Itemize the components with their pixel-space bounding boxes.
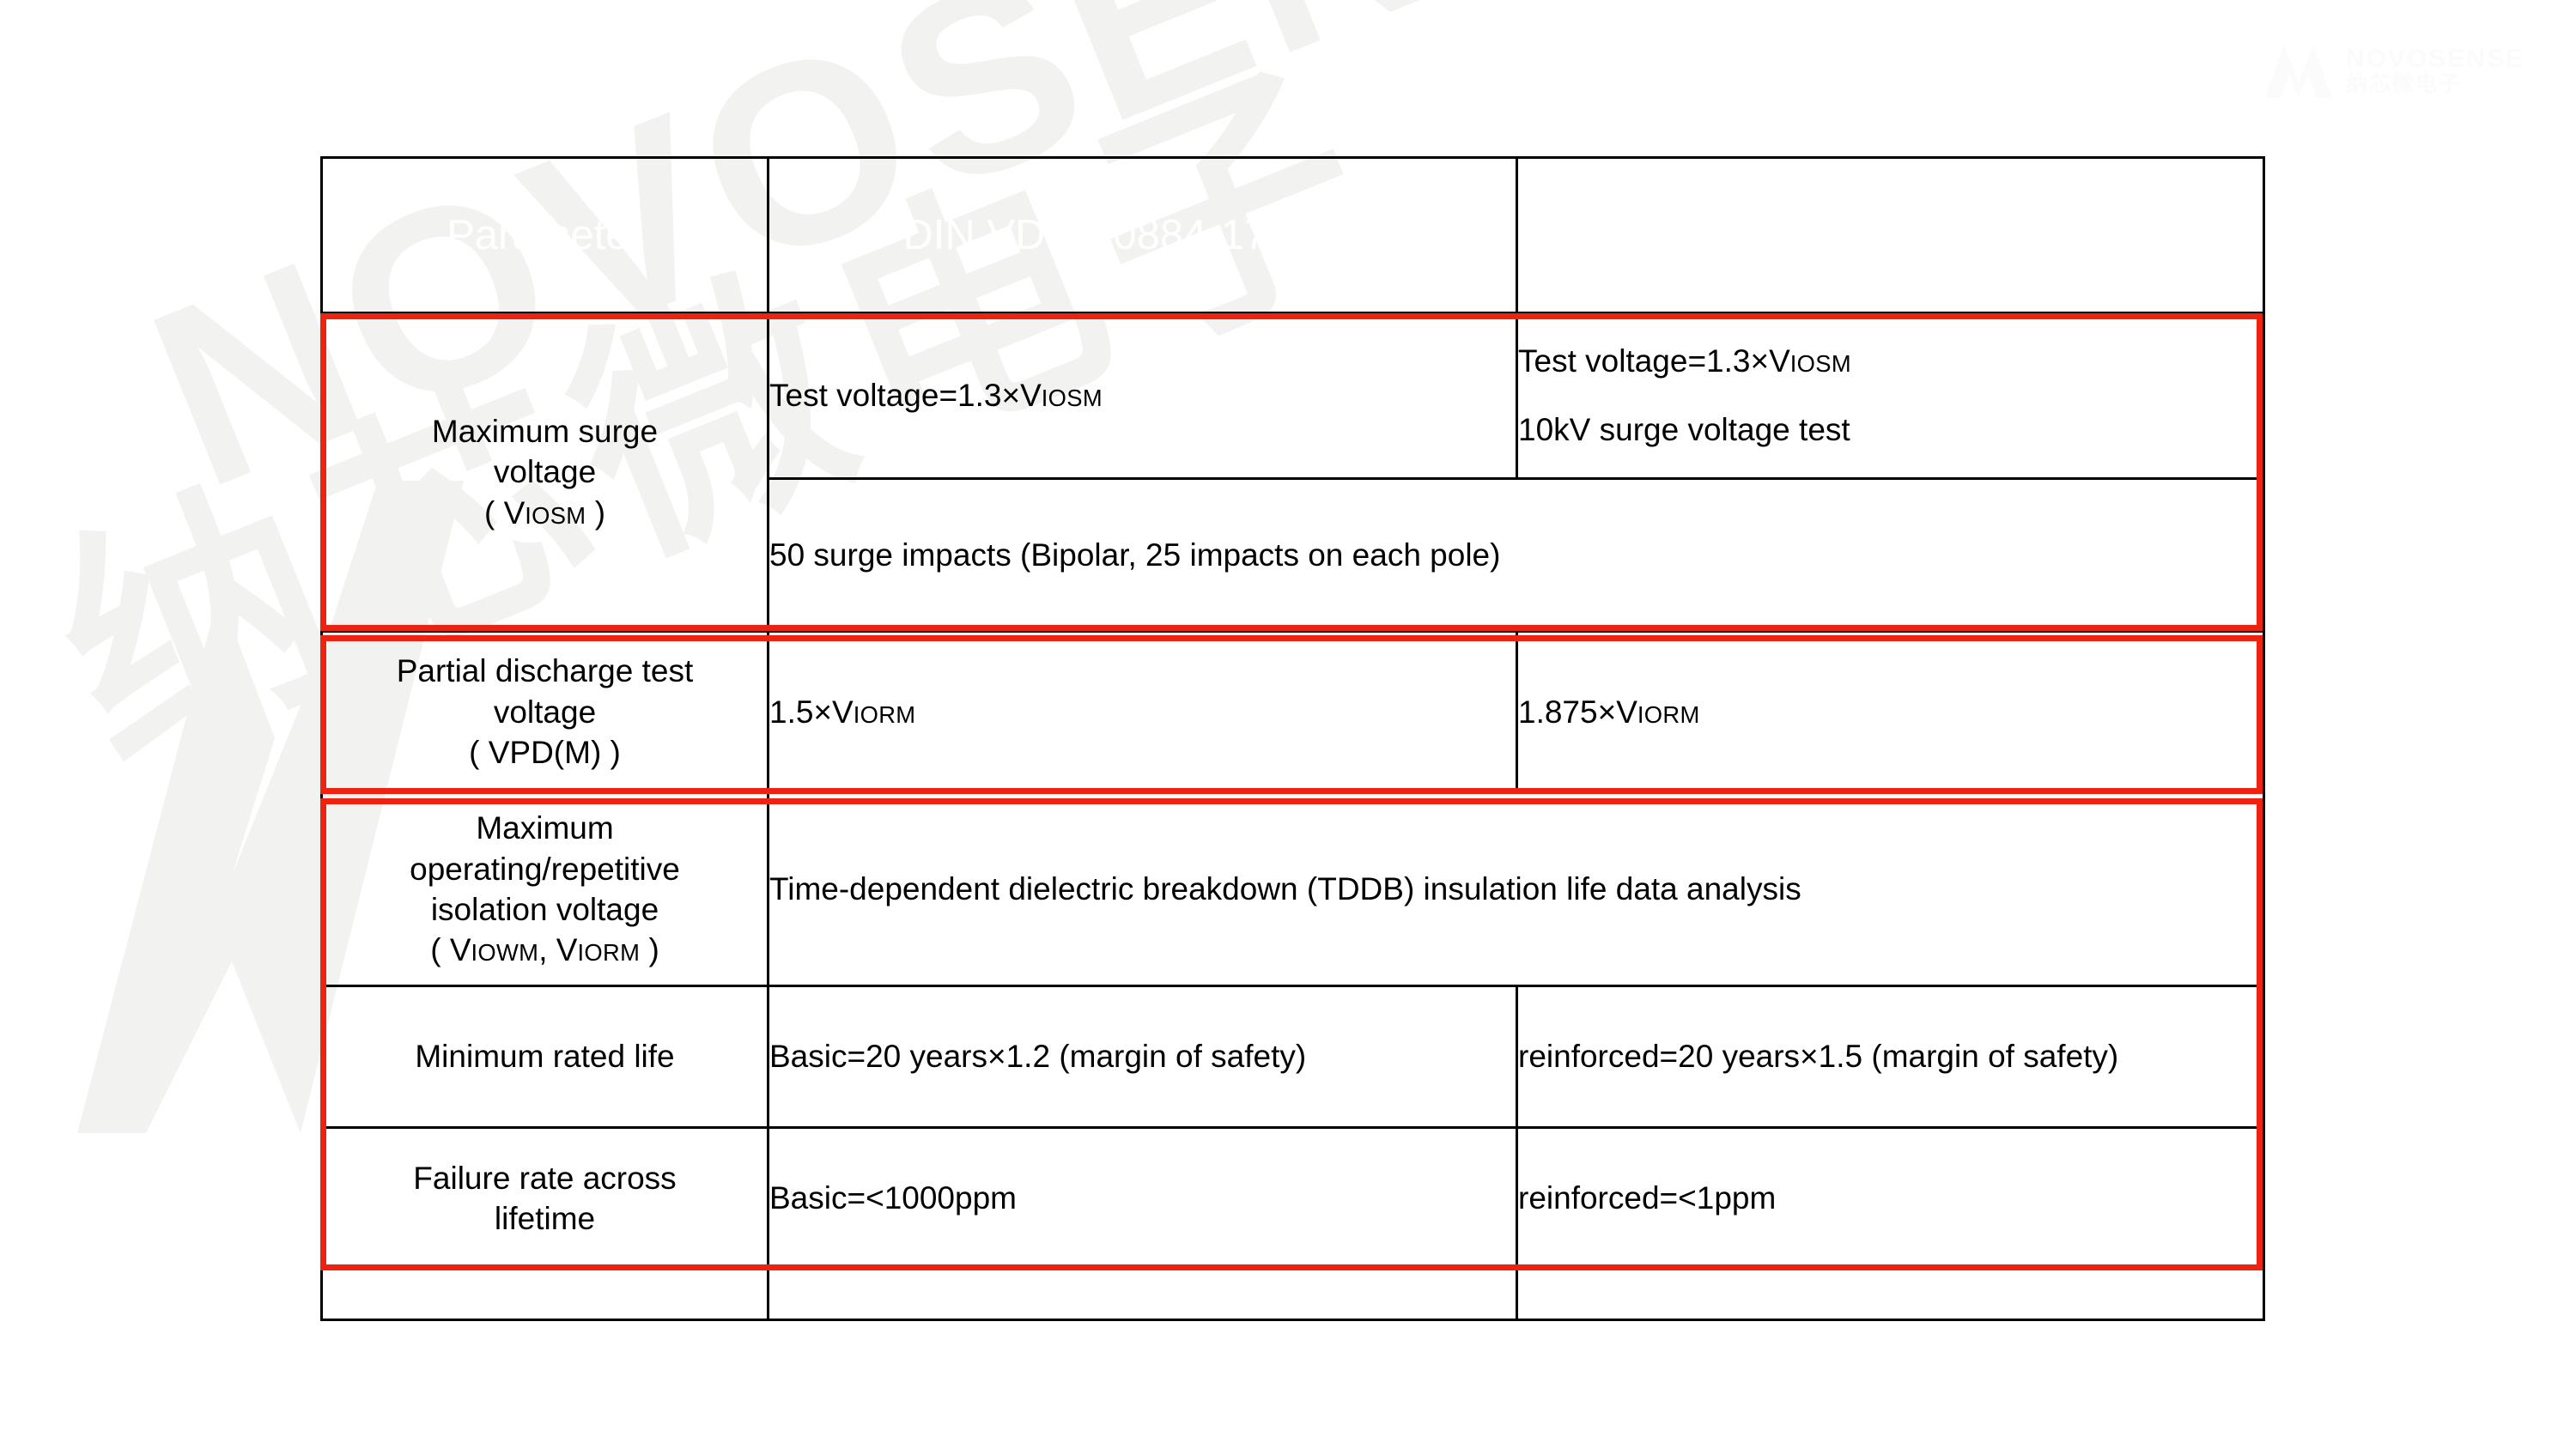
cell-param-isolation-voltage: Maximum operating/repetitive isolation v… xyxy=(322,793,769,986)
surge-param-line3-open: ( V xyxy=(484,495,525,530)
cell-param-empty xyxy=(322,1270,769,1320)
surge-param-line1: Maximum surge xyxy=(432,414,658,449)
cell-reinforced-minimum-rated-life: reinforced=20 years×1.5 (margin of safet… xyxy=(1517,986,2264,1128)
reinforced-surge-line1: Test voltage=1.3×VIOSM xyxy=(1518,338,2263,385)
table-row-minimum-rated-life: Minimum rated life Basic=20 years×1.2 (m… xyxy=(322,986,2264,1128)
basic-pd-text: 1.5×V xyxy=(769,694,854,730)
header-cell-reinforced: DIN VDE V0884-17 Reinforced xyxy=(1517,158,2264,313)
iso-param-line2: operating/repetitive xyxy=(410,852,680,887)
surge-param-line2: voltage xyxy=(494,454,596,489)
header-cell-parameter: Parameter xyxy=(322,158,769,313)
table-body: Maximum surge voltage ( VIOSM ) Test vol… xyxy=(322,313,2264,1320)
cell-reinforced-empty xyxy=(1517,1270,2264,1320)
reinforced-pd-sub: IORM xyxy=(1637,701,1700,728)
brand-text: NOVOSENSE 纳芯微电子 xyxy=(2346,45,2524,97)
header-cell-basic: DIN VDE V0884-17 Basic xyxy=(769,158,1517,313)
reinforced-pd-text: 1.875×V xyxy=(1518,694,1637,730)
brand-name-cn: 纳芯微电子 xyxy=(2346,72,2524,97)
reinforced-surge-sub: IOSM xyxy=(1790,350,1851,377)
cell-merged-tddb: Time-dependent dielectric breakdown (TDD… xyxy=(769,793,2264,986)
header-row: Parameter DIN VDE V0884-17 Basic DIN VDE… xyxy=(322,158,2264,313)
reinforced-surge-line2: 10kV surge voltage test xyxy=(1518,407,2263,453)
cell-merged-surge-impacts: 50 surge impacts (Bipolar, 25 impacts on… xyxy=(769,479,2264,632)
cell-reinforced-surge-voltage: Test voltage=1.3×VIOSM 10kV surge voltag… xyxy=(1517,313,2264,479)
cell-param-surge-voltage: Maximum surge voltage ( VIOSM ) xyxy=(322,313,769,632)
iso-param-line3: isolation voltage xyxy=(431,892,659,927)
pd-param-line1: Partial discharge test xyxy=(397,653,694,688)
brand-name: NOVOSENSE xyxy=(2346,45,2524,73)
table-row-surge-voltage: Maximum surge voltage ( VIOSM ) Test vol… xyxy=(322,313,2264,479)
fail-param-line2: lifetime xyxy=(495,1201,595,1236)
spec-table-wrapper: Parameter DIN VDE V0884-17 Basic DIN VDE… xyxy=(320,156,2263,1321)
iso-param-line1: Maximum xyxy=(476,810,613,846)
surge-param-line3-sub: IOSM xyxy=(525,502,586,529)
iso-param-line4-mid: , V xyxy=(538,932,577,967)
brand-logo: NOVOSENSE 纳芯微电子 xyxy=(2265,45,2524,98)
surge-param-line3-close: ) xyxy=(586,495,605,530)
table-header: Parameter DIN VDE V0884-17 Basic DIN VDE… xyxy=(322,158,2264,313)
basic-surge-text: Test voltage=1.3×V xyxy=(769,378,1042,413)
table-row-failure-rate: Failure rate across lifetime Basic=<1000… xyxy=(322,1128,2264,1270)
cell-reinforced-failure-rate: reinforced=<1ppm xyxy=(1517,1128,2264,1270)
cell-basic-failure-rate: Basic=<1000ppm xyxy=(769,1128,1517,1270)
cell-basic-empty xyxy=(769,1270,1517,1320)
cell-basic-partial-discharge: 1.5×VIORM xyxy=(769,632,1517,793)
basic-pd-sub: IORM xyxy=(854,701,916,728)
table-row-isolation-voltage: Maximum operating/repetitive isolation v… xyxy=(322,793,2264,986)
iso-param-line4-open: ( V xyxy=(430,932,471,967)
basic-surge-sub: IOSM xyxy=(1042,385,1103,411)
cell-basic-minimum-rated-life: Basic=20 years×1.2 (margin of safety) xyxy=(769,986,1517,1128)
table-row-empty xyxy=(322,1270,2264,1320)
insulation-spec-table: Parameter DIN VDE V0884-17 Basic DIN VDE… xyxy=(320,156,2265,1321)
iso-param-line4-sub1: IOWM xyxy=(471,939,539,966)
fail-param-line1: Failure rate across xyxy=(413,1161,676,1196)
cell-basic-surge-voltage: Test voltage=1.3×VIOSM xyxy=(769,313,1517,479)
cell-param-minimum-rated-life: Minimum rated life xyxy=(322,986,769,1128)
pd-param-line2: voltage xyxy=(494,694,596,730)
iso-param-line4-close: ) xyxy=(640,932,659,967)
cell-param-failure-rate: Failure rate across lifetime xyxy=(322,1128,769,1270)
reinforced-surge-text: Test voltage=1.3×V xyxy=(1518,343,1790,379)
pd-param-line3: ( VPD(M) ) xyxy=(469,735,621,770)
cell-reinforced-partial-discharge: 1.875×VIORM xyxy=(1517,632,2264,793)
cell-param-partial-discharge: Partial discharge test voltage ( VPD(M) … xyxy=(322,632,769,793)
iso-param-line4-sub2: IORM xyxy=(578,939,641,966)
table-row-partial-discharge: Partial discharge test voltage ( VPD(M) … xyxy=(322,632,2264,793)
novosense-n-logo-icon xyxy=(2265,45,2332,98)
